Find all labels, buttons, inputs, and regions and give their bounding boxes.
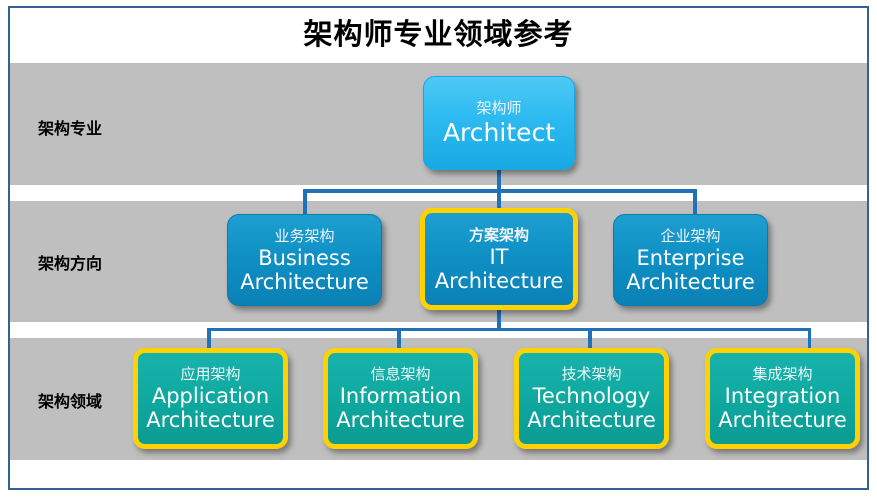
node-application-architecture-label-cn: 应用架构: [180, 365, 240, 384]
node-business-architecture-label-en-line2: Architecture: [240, 270, 369, 294]
node-architect[interactable]: 架构师 Architect: [423, 76, 575, 170]
node-technology-architecture-label-en-line2: Architecture: [527, 408, 656, 432]
node-enterprise-architecture-label-en-line2: Architecture: [626, 270, 755, 294]
node-information-architecture-label-en-line2: Architecture: [336, 408, 465, 432]
node-it-architecture[interactable]: 方案架构 IT Architecture: [420, 208, 578, 310]
node-technology-architecture-label-en-line1: Technology: [533, 384, 651, 408]
node-information-architecture[interactable]: 信息架构 Information Architecture: [323, 348, 478, 449]
node-information-architecture-label-cn: 信息架构: [370, 365, 430, 384]
node-architect-label-cn: 架构师: [476, 99, 521, 118]
node-it-architecture-label-en-line2: Architecture: [435, 269, 564, 293]
node-technology-architecture-label-cn: 技术架构: [561, 365, 621, 384]
node-business-architecture-label-en-line1: Business: [258, 246, 351, 270]
node-architect-label-en: Architect: [443, 118, 555, 148]
connector-to-business: [303, 189, 307, 216]
node-integration-architecture[interactable]: 集成架构 Integration Architecture: [705, 348, 860, 449]
connector-level3-bus: [207, 328, 811, 331]
slide-canvas: 架构师专业领域参考 架构专业 架构方向 架构领域 架构师 Architect 业…: [0, 0, 877, 499]
node-integration-architecture-label-en-line1: Integration: [725, 384, 841, 408]
node-it-architecture-label-cn: 方案架构: [469, 226, 529, 245]
node-business-architecture-label-cn: 业务架构: [274, 227, 334, 246]
row-label-architecture-domain: 架构领域: [10, 388, 130, 412]
node-integration-architecture-label-cn: 集成架构: [752, 365, 812, 384]
node-information-architecture-label-en-line1: Information: [340, 384, 462, 408]
node-application-architecture-label-en-line2: Architecture: [146, 408, 275, 432]
node-enterprise-architecture-label-en-line1: Enterprise: [636, 246, 744, 270]
node-application-architecture[interactable]: 应用架构 Application Architecture: [133, 348, 288, 449]
page-title: 架构师专业领域参考: [10, 10, 867, 58]
node-enterprise-architecture[interactable]: 企业架构 Enterprise Architecture: [613, 214, 768, 306]
row-label-architecture-profession: 架构专业: [10, 115, 130, 139]
node-application-architecture-label-en-line1: Application: [152, 384, 269, 408]
node-enterprise-architecture-label-cn: 企业架构: [660, 227, 720, 246]
node-integration-architecture-label-en-line2: Architecture: [718, 408, 847, 432]
connector-to-enterprise: [693, 189, 697, 216]
node-technology-architecture[interactable]: 技术架构 Technology Architecture: [514, 348, 669, 449]
node-business-architecture[interactable]: 业务架构 Business Architecture: [227, 214, 382, 306]
row-label-architecture-direction: 架构方向: [10, 250, 130, 274]
node-it-architecture-label-en-line1: IT: [489, 245, 508, 269]
